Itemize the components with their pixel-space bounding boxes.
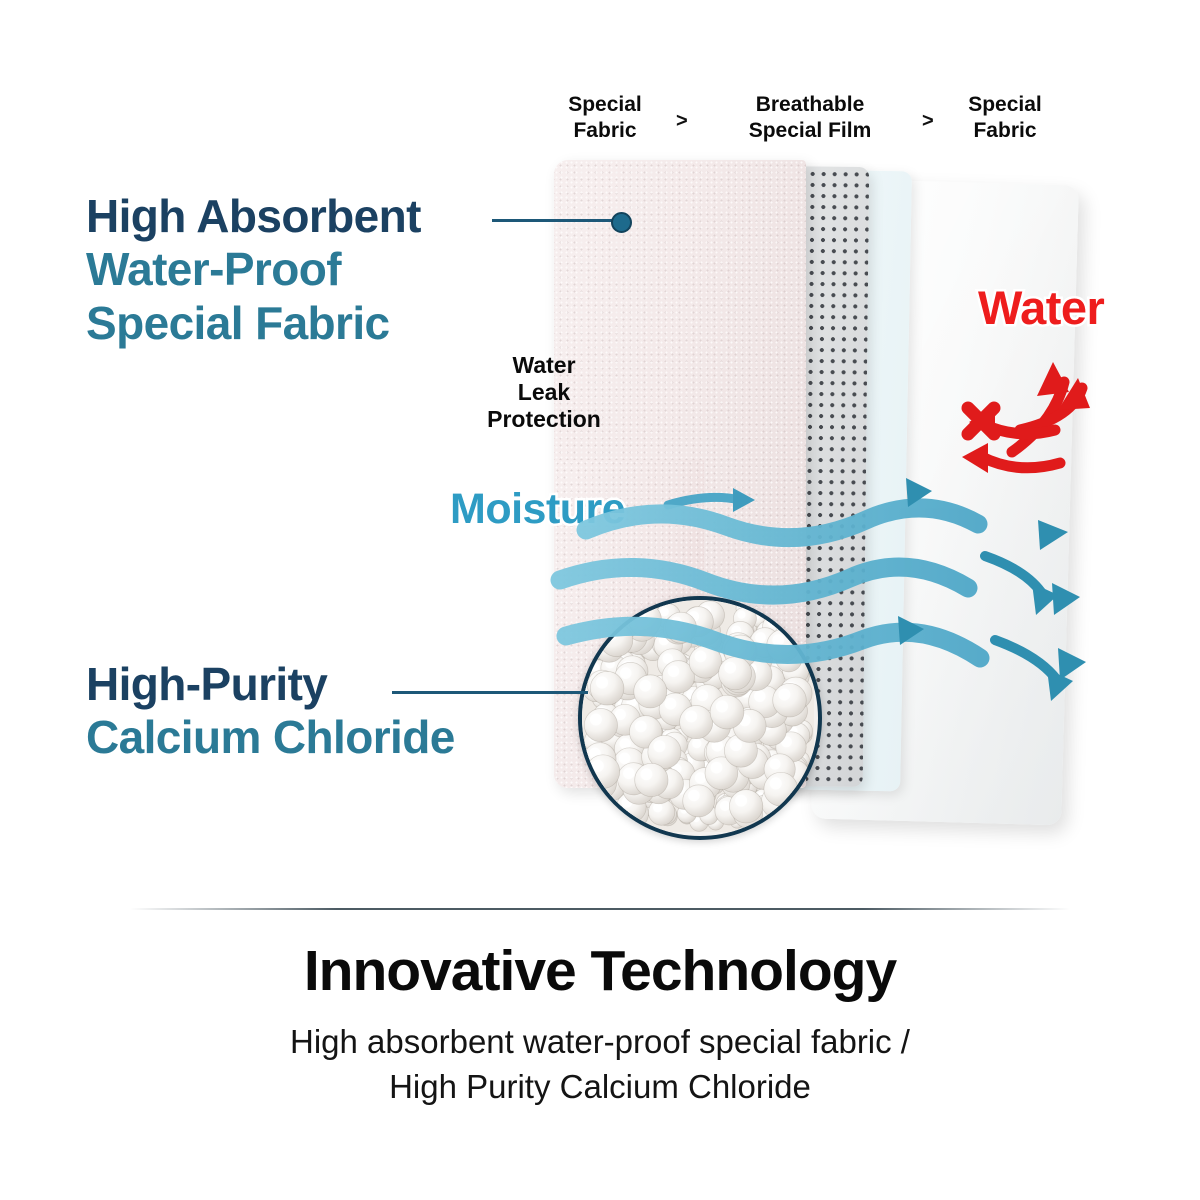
caption-separator-2: > <box>922 110 934 133</box>
caption-breathable-special-film: BreathableSpecial Film <box>700 92 920 143</box>
water-label: Water <box>978 280 1104 335</box>
footer-subtitle-line-2: High Purity Calcium Chloride <box>0 1064 1200 1110</box>
heading-high-purity: High-Purity Calcium Chloride <box>86 658 455 765</box>
heading-1-line-2: Water-Proof <box>86 243 421 296</box>
footer-block: Innovative Technology High absorbent wat… <box>0 940 1200 1110</box>
calcium-chloride-pellets-circle <box>578 596 822 840</box>
heading-1-line-3: Special Fabric <box>86 297 421 350</box>
heading-high-absorbent: High Absorbent Water-Proof Special Fabri… <box>86 190 421 350</box>
footer-subtitle: High absorbent water-proof special fabri… <box>0 1019 1200 1110</box>
section-divider <box>130 908 1070 910</box>
product-layer-stack: WaterLeakProtection Water Moisture <box>520 160 1140 860</box>
water-leak-protection-label: WaterLeakProtection <box>460 352 628 433</box>
infographic-canvas: SpecialFabric > BreathableSpecial Film >… <box>0 0 1200 1200</box>
footer-subtitle-line-1: High absorbent water-proof special fabri… <box>0 1019 1200 1065</box>
caption-special-fabric-left: SpecialFabric <box>540 92 670 143</box>
leader-dot-fabric <box>611 212 632 233</box>
footer-title: Innovative Technology <box>0 940 1200 1003</box>
leader-line-fabric <box>492 219 622 222</box>
heading-2-line-1: High-Purity <box>86 658 455 711</box>
caption-special-fabric-right: SpecialFabric <box>940 92 1070 143</box>
caption-separator-1: > <box>676 110 688 133</box>
layer-caption-row: SpecialFabric > BreathableSpecial Film >… <box>540 88 1100 158</box>
moisture-label: Moisture <box>450 485 625 534</box>
heading-2-line-2: Calcium Chloride <box>86 711 455 764</box>
calcium-chloride-pellets-icon <box>582 600 814 832</box>
leader-line-pellets <box>392 691 588 694</box>
heading-1-line-1: High Absorbent <box>86 190 421 243</box>
